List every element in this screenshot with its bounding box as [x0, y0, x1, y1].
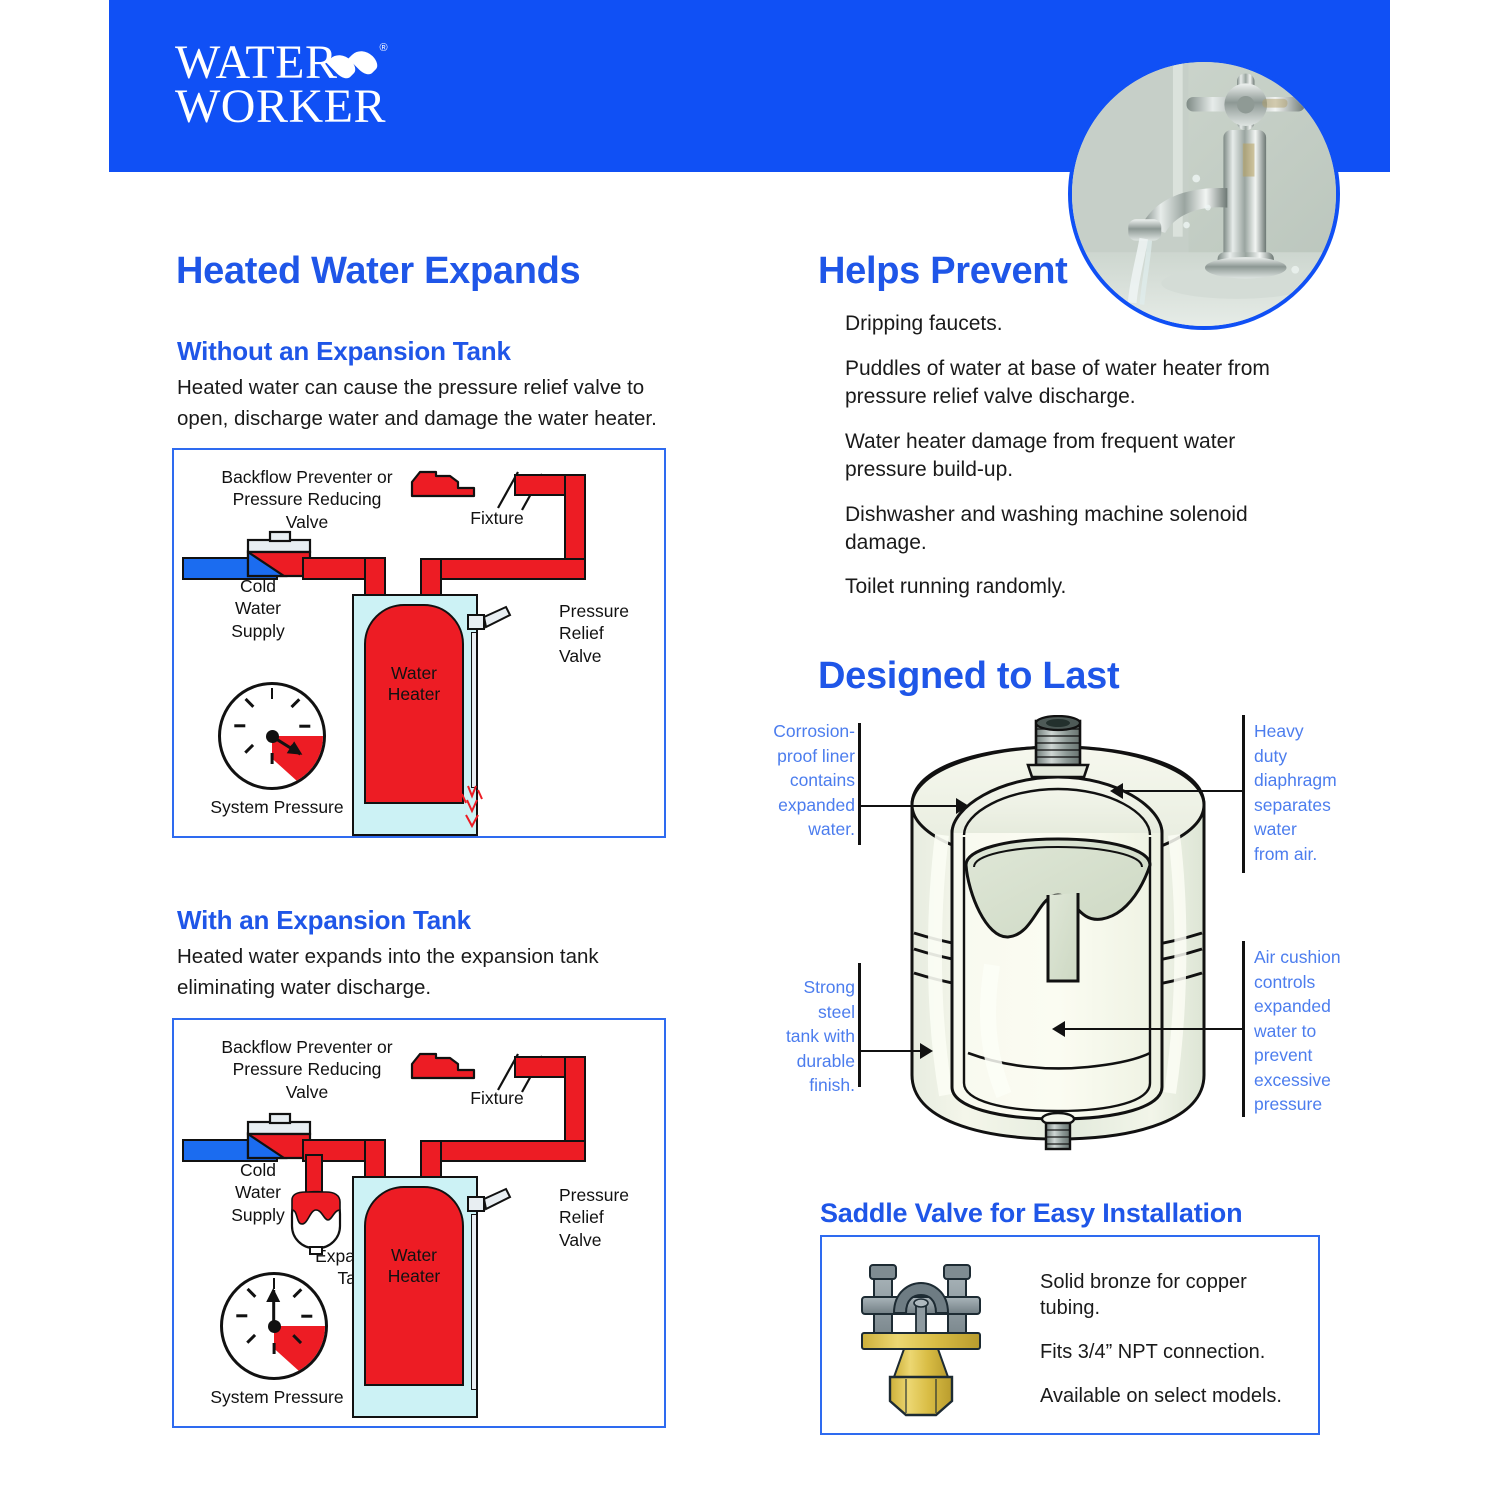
leader-hline-corrosion [860, 805, 958, 807]
brand-line2: WORKER [175, 86, 386, 128]
dripping-faucet-photo [1068, 58, 1340, 330]
section-title-saddle-valve: Saddle Valve for Easy Installation [820, 1198, 1242, 1229]
registered-trademark-icon: ® [379, 44, 388, 54]
leader-arrow-diaphragm [1110, 783, 1123, 799]
tank-illustration [888, 715, 1228, 1165]
body-with-expansion-tank: Heated water expands into the expansion … [177, 941, 717, 1003]
label-system-pressure-2: System Pressure [187, 1386, 367, 1408]
section-title-designed-to-last: Designed to Last [818, 655, 1119, 698]
diagram-with-expansion-tank: Backflow Preventer or Pressure Reducing … [172, 1018, 666, 1428]
label-air-cushion: Air cushioncontrolsexpandedwater topreve… [1254, 945, 1366, 1117]
subheading-without-expansion-tank: Without an Expansion Tank [177, 336, 511, 367]
list-item: Available on select models. [1012, 1383, 1302, 1409]
brand-line1: WATER [175, 36, 337, 89]
water-drop-bullet-icon [820, 433, 832, 450]
section-title-helps-prevent: Helps Prevent [818, 250, 1068, 293]
label-water-heater: Water Heater [364, 663, 464, 705]
discharge-pipe [471, 632, 477, 788]
leader-vline-diaphragm [1242, 715, 1245, 873]
list-item: Solid bronze for copper tubing. [1012, 1269, 1302, 1321]
pipe-mid-horizontal-right-2 [420, 1140, 586, 1162]
leader-hline-diaphragm [1122, 790, 1242, 792]
label-water-heater-2: Water Heater [364, 1245, 464, 1287]
system-pressure-gauge-normal [220, 1272, 328, 1380]
page-title-heated-water-expands: Heated Water Expands [176, 250, 580, 293]
water-drop-bullet-icon [820, 578, 832, 595]
label-pressure-relief-valve-2: Pressure Relief Valve [559, 1184, 663, 1251]
label-backflow-preventer: Backflow Preventer or Pressure Reducing … [192, 466, 422, 533]
label-strong-steel-tank: Strongsteeltank withdurablefinish. [767, 975, 855, 1098]
list-item: Dishwasher and washing machine solenoid … [818, 501, 1318, 557]
expansion-tank-cutaway-diagram: Corrosion-proof linercontainsexpandedwat… [770, 705, 1370, 1165]
faucet-illustration [1072, 62, 1336, 326]
body-without-expansion-tank: Heated water can cause the pressure reli… [177, 372, 717, 434]
label-heavy-duty-diaphragm: Heavydutydiaphragmseparateswaterfrom air… [1254, 719, 1364, 866]
leader-hline-steel [860, 1050, 922, 1052]
saddle-valve-illustration [856, 1259, 986, 1419]
leader-vline-aircushion [1242, 941, 1245, 1117]
water-drop-bullet-icon [820, 360, 832, 377]
leader-arrow-aircushion [1052, 1021, 1065, 1037]
leader-hline-aircushion [1064, 1028, 1242, 1030]
water-drop-bullet-icon [820, 506, 832, 523]
list-item: Puddles of water at base of water heater… [818, 355, 1318, 411]
list-item: Dripping faucets. [818, 310, 1318, 338]
leader-vline-corrosion [858, 723, 861, 845]
brand-logo: WATER® WORKER [175, 42, 386, 128]
discharge-pipe-2 [471, 1214, 477, 1390]
label-corrosion-proof-liner: Corrosion-proof linercontainsexpandedwat… [767, 719, 855, 842]
leader-arrow-corrosion [956, 798, 969, 814]
water-discharge-spray-icon [458, 784, 492, 838]
label-backflow-preventer-2: Backflow Preventer or Pressure Reducing … [192, 1036, 422, 1103]
label-system-pressure: System Pressure [187, 796, 367, 818]
expansion-tank-icon [284, 1186, 348, 1258]
diagram-without-expansion-tank: Backflow Preventer or Pressure Reducing … [172, 448, 666, 838]
leader-vline-steel [858, 963, 861, 1087]
list-item: Water heater damage from frequent water … [818, 428, 1318, 484]
saddle-valve-panel: Solid bronze for copper tubing. Fits 3/4… [820, 1235, 1320, 1435]
leader-arrow-steel [920, 1043, 933, 1059]
system-pressure-gauge-high [218, 682, 326, 790]
subheading-with-expansion-tank: With an Expansion Tank [177, 905, 471, 936]
label-pressure-relief-valve: Pressure Relief Valve [559, 600, 663, 667]
water-drop-bullet-icon [820, 315, 832, 332]
water-drops-icon: ® [333, 44, 385, 84]
list-item: Toilet running randomly. [818, 573, 1318, 601]
saddle-valve-list: Solid bronze for copper tubing. Fits 3/4… [1012, 1269, 1302, 1427]
helps-prevent-list: Dripping faucets. Puddles of water at ba… [818, 310, 1318, 618]
list-item: Fits 3/4” NPT connection. [1012, 1339, 1302, 1365]
pipe-mid-horizontal-right [420, 558, 586, 580]
